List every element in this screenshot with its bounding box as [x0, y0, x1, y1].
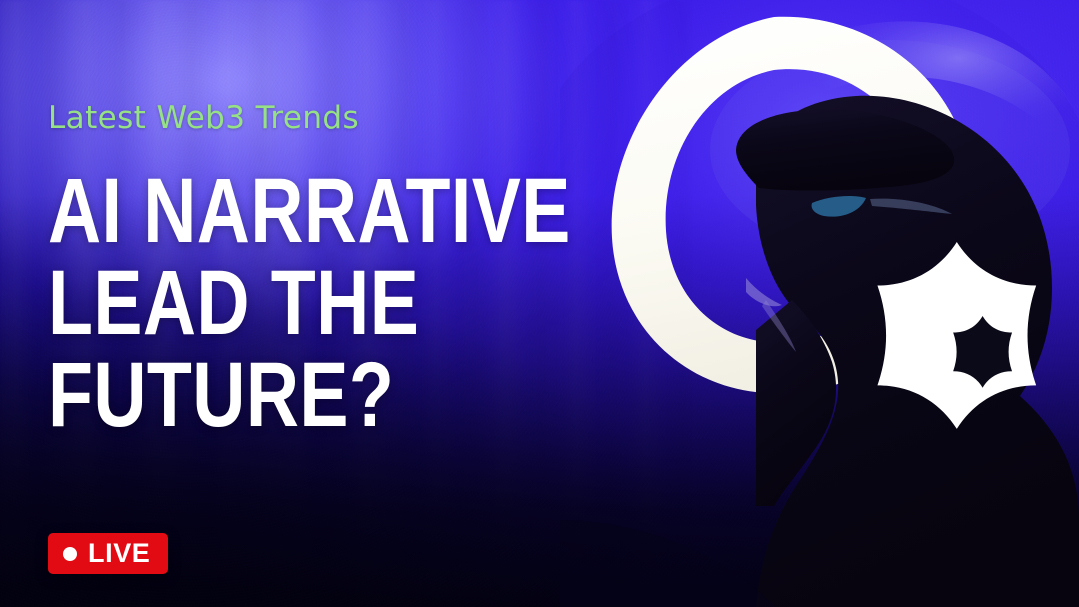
live-dot-icon: [63, 547, 77, 561]
promo-banner: Latest Web3 Trends AI NARRATIVE LEAD THE…: [0, 0, 1079, 607]
text-content: Latest Web3 Trends AI NARRATIVE LEAD THE…: [48, 0, 608, 607]
page-title: AI NARRATIVE LEAD THE FUTURE?: [48, 165, 701, 441]
status-badge-live[interactable]: LIVE: [48, 533, 168, 574]
headline-line-3: FUTURE?: [48, 349, 571, 441]
live-badge-label: LIVE: [88, 540, 150, 567]
headline-line-2: LEAD THE: [48, 257, 571, 349]
eyebrow-text: Latest Web3 Trends: [48, 100, 359, 136]
headline-line-1: AI NARRATIVE: [48, 165, 571, 257]
